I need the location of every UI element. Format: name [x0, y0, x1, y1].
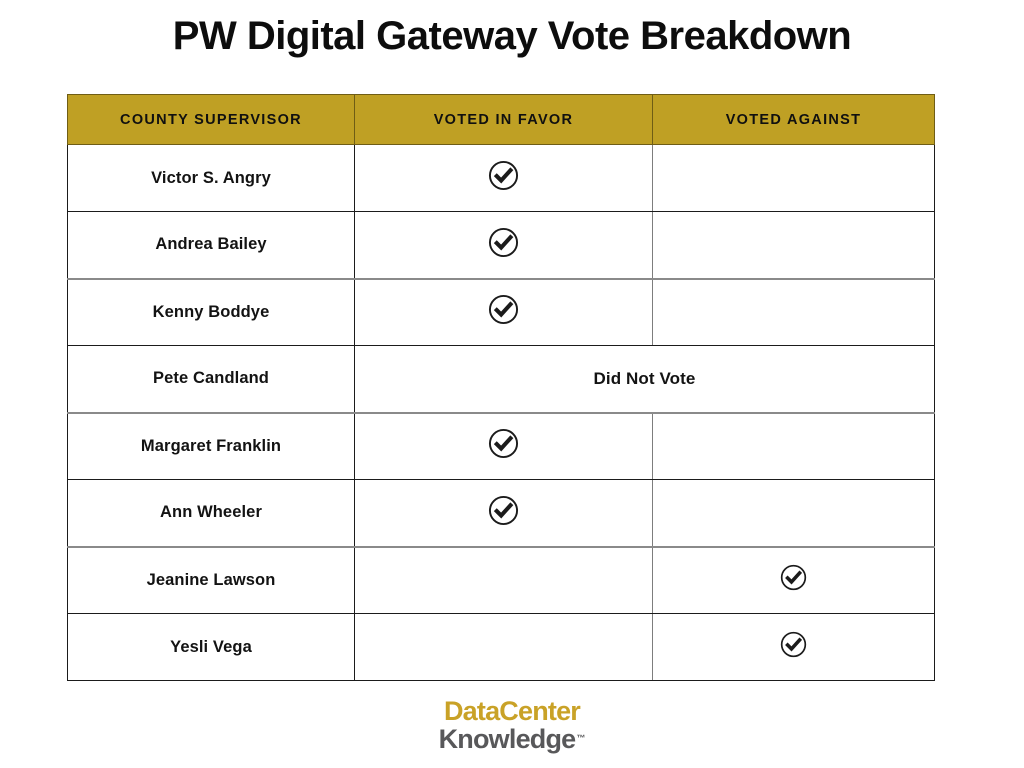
- cell-supervisor-name: Pete Candland: [68, 346, 355, 413]
- cell-voted-against: [653, 480, 935, 547]
- table-row: Kenny Boddye: [68, 279, 935, 346]
- cell-voted-against: [653, 279, 935, 346]
- datacenter-knowledge-logo: DataCenter Knowledge™: [0, 698, 1024, 753]
- logo-knowledge-text: Knowledge: [439, 724, 576, 754]
- table-header: COUNTY SUPERVISOR VOTED IN FAVOR VOTED A…: [68, 95, 935, 145]
- cell-voted-against: [653, 212, 935, 279]
- table-row: Andrea Bailey: [68, 212, 935, 279]
- did-not-vote-label: Did Not Vote: [594, 369, 696, 388]
- cell-voted-against: [653, 413, 935, 480]
- vote-breakdown-table: COUNTY SUPERVISOR VOTED IN FAVOR VOTED A…: [67, 94, 935, 681]
- check-circle-icon: [488, 227, 519, 258]
- cell-voted-in-favor: [355, 279, 653, 346]
- check-circle-icon: [488, 495, 519, 526]
- table-body: Victor S. AngryAndrea BaileyKenny Boddye…: [68, 145, 935, 681]
- cell-supervisor-name: Ann Wheeler: [68, 480, 355, 547]
- supervisor-name-label: Kenny Boddye: [153, 303, 270, 321]
- logo-line-knowledge: Knowledge™: [0, 726, 1024, 753]
- table-row: Yesli Vega: [68, 614, 935, 681]
- cell-voted-in-favor: [355, 614, 653, 681]
- table-row: Margaret Franklin: [68, 413, 935, 480]
- column-header-supervisor: COUNTY SUPERVISOR: [68, 95, 355, 145]
- cell-supervisor-name: Margaret Franklin: [68, 413, 355, 480]
- cell-supervisor-name: Andrea Bailey: [68, 212, 355, 279]
- check-circle-icon: [780, 564, 807, 591]
- cell-voted-in-favor: [355, 212, 653, 279]
- cell-voted-against: [653, 614, 935, 681]
- column-header-voted-against: VOTED AGAINST: [653, 95, 935, 145]
- cell-supervisor-name: Yesli Vega: [68, 614, 355, 681]
- supervisor-name-label: Ann Wheeler: [160, 503, 262, 521]
- cell-supervisor-name: Victor S. Angry: [68, 145, 355, 212]
- table-row: Ann Wheeler: [68, 480, 935, 547]
- check-circle-icon: [488, 428, 519, 459]
- supervisor-name-label: Margaret Franklin: [141, 437, 281, 455]
- supervisor-name-label: Victor S. Angry: [151, 169, 271, 187]
- cell-voted-against: [653, 547, 935, 614]
- check-circle-icon: [488, 160, 519, 191]
- cell-voted-in-favor: [355, 480, 653, 547]
- supervisor-name-label: Pete Candland: [153, 369, 269, 387]
- cell-did-not-vote: Did Not Vote: [355, 346, 935, 413]
- cell-voted-in-favor: [355, 413, 653, 480]
- cell-supervisor-name: Jeanine Lawson: [68, 547, 355, 614]
- table-header-row: COUNTY SUPERVISOR VOTED IN FAVOR VOTED A…: [68, 95, 935, 145]
- supervisor-name-label: Yesli Vega: [170, 638, 252, 656]
- table-row: Jeanine Lawson: [68, 547, 935, 614]
- logo-line-datacenter: DataCenter: [0, 698, 1024, 725]
- cell-voted-against: [653, 145, 935, 212]
- page-title: PW Digital Gateway Vote Breakdown: [0, 14, 1024, 59]
- table-row: Victor S. Angry: [68, 145, 935, 212]
- check-circle-icon: [488, 294, 519, 325]
- table-row: Pete CandlandDid Not Vote: [68, 346, 935, 413]
- cell-supervisor-name: Kenny Boddye: [68, 279, 355, 346]
- supervisor-name-label: Jeanine Lawson: [147, 571, 276, 589]
- check-circle-icon: [780, 631, 807, 658]
- trademark-icon: ™: [576, 733, 585, 743]
- cell-voted-in-favor: [355, 145, 653, 212]
- column-header-voted-in-favor: VOTED IN FAVOR: [355, 95, 653, 145]
- cell-voted-in-favor: [355, 547, 653, 614]
- supervisor-name-label: Andrea Bailey: [155, 235, 266, 253]
